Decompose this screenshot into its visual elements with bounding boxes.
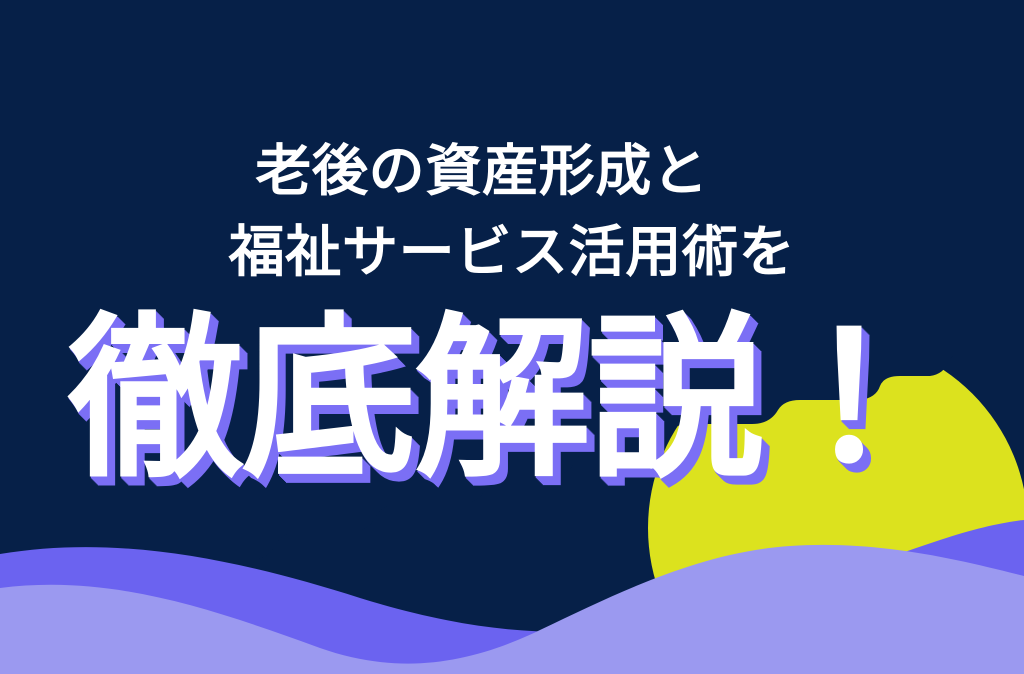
background-graphics [0, 0, 1024, 674]
promo-banner: 老後の資産形成と 福祉サービス活用術を 徹底解説！ [0, 0, 1024, 674]
